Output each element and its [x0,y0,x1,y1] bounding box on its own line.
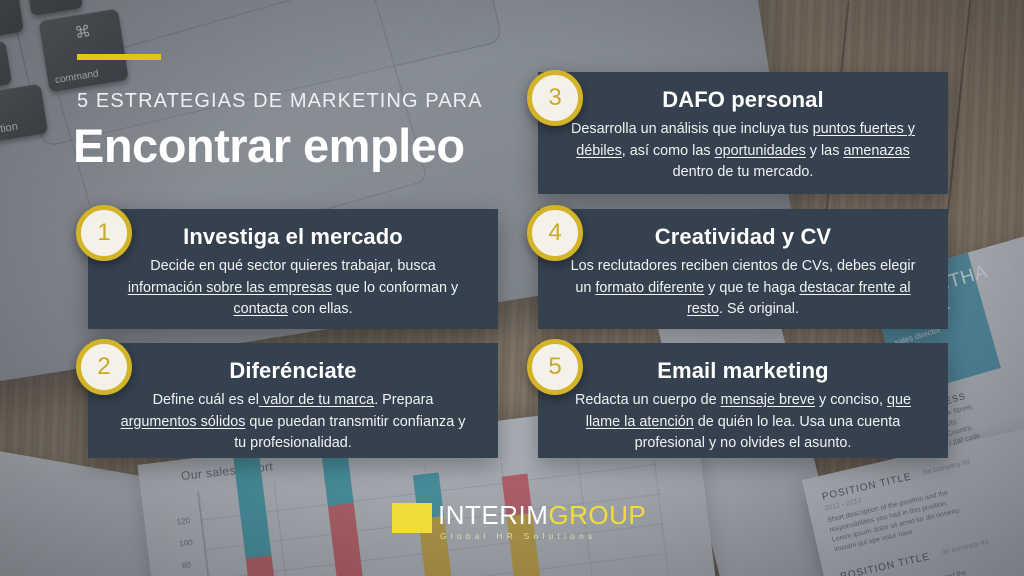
tip-card-3-number-badge: 3 [527,70,583,126]
tip-card-1-body: Decide en qué sector quieres trabajar, b… [114,256,472,320]
tip-card-4: Creatividad y CV Los reclutadores recibe… [538,209,948,329]
tip-card-3: DAFO personal Desarrolla un análisis que… [538,72,948,194]
logo-word-primary: INTERIM [438,500,548,530]
poster-content: 5 ESTRATEGIAS DE MARKETING PARA Encontra… [0,0,1024,576]
tip-card-1: Investiga el mercado Decide en qué secto… [88,209,498,329]
page-title: Encontrar empleo [73,118,465,173]
tip-card-2: Diferénciate Define cuál es el valor de … [88,343,498,458]
tip-card-4-body: Los reclutadores reciben cientos de CVs,… [564,256,922,320]
logo-stripes-icon [410,503,432,533]
tip-card-4-number-badge: 4 [527,205,583,261]
tip-card-3-body: Desarrolla un análisis que incluya tus p… [564,119,922,183]
page-kicker: 5 ESTRATEGIAS DE MARKETING PARA [77,90,483,113]
logo-tagline: Global HR Solutions [440,531,596,541]
logo-mark-icon [392,503,432,533]
interimgroup-logo: INTERIMGROUP Global HR Solutions [392,500,642,548]
logo-wordmark: INTERIMGROUP [438,500,646,531]
tip-card-4-title: Creatividad y CV [564,225,922,249]
accent-bar [77,54,161,60]
logo-word-secondary: GROUP [548,500,646,530]
tip-card-1-title: Investiga el mercado [114,225,472,249]
tip-card-3-title: DAFO personal [564,88,922,112]
tip-card-5-number-badge: 5 [527,339,583,395]
tip-card-5-body: Redacta un cuerpo de mensaje breve y con… [564,390,922,454]
tip-card-5-title: Email marketing [564,359,922,383]
tip-card-2-body: Define cuál es el valor de tu marca. Pre… [114,390,472,454]
infographic-poster: Z X alt option ⌘ command Our sales repor… [0,0,1024,576]
tip-card-1-number-badge: 1 [76,205,132,261]
tip-card-2-number-badge: 2 [76,339,132,395]
tip-card-2-title: Diferénciate [114,359,472,383]
tip-card-5: Email marketing Redacta un cuerpo de men… [538,343,948,458]
